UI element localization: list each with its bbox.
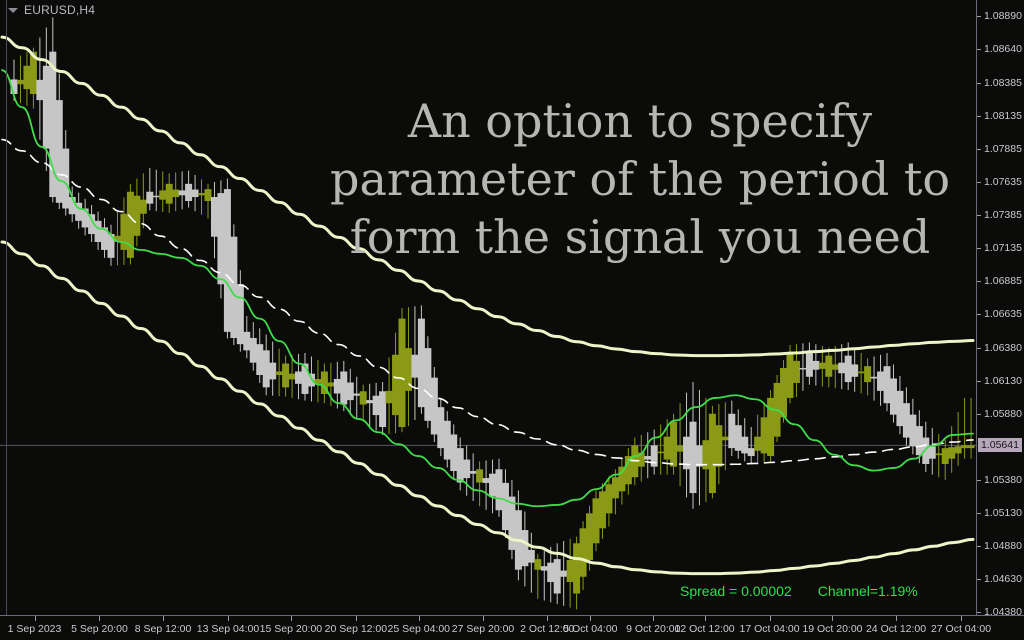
candlestick	[146, 168, 153, 210]
candlestick	[276, 349, 283, 397]
candlestick	[166, 173, 173, 213]
time-tick	[35, 616, 36, 621]
time-label: 1 Sep 2023	[8, 623, 62, 635]
candlestick	[373, 383, 380, 431]
candlestick	[282, 356, 289, 397]
candlestick	[709, 406, 716, 499]
candlestick	[450, 424, 457, 479]
time-tick	[832, 616, 833, 621]
candlestick	[767, 390, 774, 461]
price-tick	[977, 414, 981, 415]
candlestick	[17, 56, 24, 104]
candlestick	[444, 411, 451, 467]
candlestick	[735, 409, 742, 458]
candlestick	[806, 342, 813, 384]
time-tick	[291, 616, 292, 621]
candlestick	[101, 218, 108, 258]
time-tick	[483, 616, 484, 621]
candlestick	[476, 461, 483, 506]
candlestick	[799, 343, 806, 391]
candlestick	[741, 418, 748, 461]
time-tick	[653, 616, 654, 621]
time-tick	[770, 616, 771, 621]
time-tick	[356, 616, 357, 621]
symbol-bar[interactable]: EURUSD,H4	[0, 0, 95, 20]
candlestick	[955, 412, 962, 466]
candlestick	[929, 428, 936, 475]
candlestick	[159, 171, 166, 212]
candlestick	[437, 398, 444, 456]
candlestick	[605, 476, 612, 526]
candlestick	[625, 448, 632, 495]
candlestick	[871, 357, 878, 401]
candlestick	[179, 171, 186, 209]
candlestick	[638, 435, 645, 482]
candlestick	[884, 353, 891, 411]
time-label: 17 Oct 04:00	[739, 623, 799, 635]
candlestick	[715, 404, 722, 484]
candlestick	[825, 348, 832, 388]
price-tick	[977, 612, 981, 613]
candlestick	[877, 355, 884, 406]
candlestick	[321, 364, 328, 404]
candlestick	[386, 357, 393, 434]
time-tick	[228, 616, 229, 621]
candlestick	[379, 382, 386, 435]
candlestick	[198, 179, 205, 214]
chart-plot-area[interactable]	[0, 0, 977, 616]
candlestick	[424, 336, 431, 428]
symbol-label: EURUSD,H4	[24, 3, 95, 17]
time-label: 27 Sep 20:00	[452, 623, 514, 635]
time-tick	[99, 616, 100, 621]
price-tick	[977, 314, 981, 315]
candlestick	[314, 360, 321, 402]
candlestick	[618, 459, 625, 505]
time-label: 19 Oct 20:00	[802, 623, 862, 635]
time-tick	[896, 616, 897, 621]
candlestick	[95, 212, 102, 250]
candlestick	[295, 354, 302, 399]
price-tick	[977, 513, 981, 514]
price-label: 1.04880	[984, 540, 1022, 552]
candlestick	[935, 434, 942, 477]
price-label: 1.07635	[984, 176, 1022, 188]
candlestick	[250, 322, 257, 370]
candlestick	[392, 333, 399, 433]
candlestick	[411, 306, 418, 420]
candlestick	[948, 426, 955, 473]
price-tick	[977, 83, 981, 84]
chart-left-border	[6, 0, 7, 616]
price-tick	[977, 546, 981, 547]
price-tick	[977, 182, 981, 183]
candlestick	[502, 469, 509, 538]
candlestick	[127, 184, 134, 265]
time-tick	[590, 616, 591, 621]
price-tick	[977, 116, 981, 117]
price-label: 1.07885	[984, 143, 1022, 155]
price-label: 1.08385	[984, 77, 1022, 89]
price-tick	[977, 49, 981, 50]
candlestick	[496, 459, 503, 517]
candlestick	[593, 490, 600, 551]
candlestick	[108, 225, 115, 266]
candlestick	[541, 550, 548, 600]
candlestick	[573, 537, 580, 610]
candlestick	[256, 328, 263, 383]
price-label: 1.08890	[984, 10, 1022, 22]
time-label: 24 Oct 12:00	[866, 623, 926, 635]
price-tick	[977, 281, 981, 282]
price-label: 1.07385	[984, 209, 1022, 221]
candlestick	[961, 398, 968, 459]
series-moving-average	[2, 70, 973, 506]
chart-canvas	[0, 0, 977, 616]
time-label: 5 Sep 20:00	[71, 623, 128, 635]
candlestick	[75, 193, 82, 229]
candlestick	[677, 403, 684, 486]
time-tick	[163, 616, 164, 621]
time-label: 27 Oct 04:00	[931, 623, 991, 635]
candlestick	[269, 342, 276, 396]
price-tick	[977, 480, 981, 481]
candlestick	[851, 348, 858, 392]
price-label: 1.08135	[984, 110, 1022, 122]
candlestick	[405, 307, 412, 426]
candlestick	[463, 445, 470, 495]
candlestick	[728, 401, 735, 457]
price-tick	[977, 248, 981, 249]
candlestick	[56, 74, 63, 209]
candlestick	[547, 547, 554, 603]
candlestick	[896, 376, 903, 434]
candlestick	[968, 398, 975, 459]
candlestick	[120, 197, 127, 264]
current-price-label: 1.05641	[978, 438, 1022, 452]
candlestick	[942, 440, 949, 480]
candlestick	[230, 224, 237, 345]
time-label: 13 Sep 04:00	[197, 623, 259, 635]
candlestick	[508, 480, 515, 559]
price-tick	[977, 381, 981, 382]
price-label: 1.08640	[984, 43, 1022, 55]
candlestick	[140, 173, 147, 228]
price-tick	[977, 215, 981, 216]
spread-label: Spread = 0.00002	[680, 583, 792, 599]
candlestick	[347, 369, 354, 415]
candlestick	[366, 384, 373, 426]
time-tick	[547, 616, 548, 621]
candlestick	[903, 387, 910, 445]
price-scale[interactable]: 1.088901.086401.083851.081351.078851.076…	[976, 0, 1024, 616]
price-label: 1.06380	[984, 342, 1022, 354]
candlestick	[909, 399, 916, 455]
candlestick	[114, 211, 121, 265]
price-tick	[977, 16, 981, 17]
candlestick	[360, 385, 367, 422]
price-label: 1.06130	[984, 375, 1022, 387]
candlestick	[470, 453, 477, 501]
candlestick	[82, 199, 89, 236]
candlestick	[567, 539, 574, 608]
candlestick	[36, 38, 43, 140]
candlestick	[580, 521, 587, 590]
candlestick	[754, 415, 761, 463]
candlestick	[23, 52, 30, 106]
time-tick	[705, 616, 706, 621]
series-midline-dashed-	[2, 140, 973, 465]
candlestick	[858, 353, 865, 394]
time-label: 9 Oct 20:00	[626, 623, 680, 635]
candlestick	[528, 533, 535, 593]
price-tick	[977, 579, 981, 580]
candlestick	[399, 308, 406, 432]
price-label: 1.07135	[984, 242, 1022, 254]
candlestick	[302, 353, 309, 401]
candlestick	[211, 182, 218, 258]
candlestick	[205, 184, 212, 218]
candlestick	[651, 430, 658, 475]
candlestick	[263, 334, 270, 395]
indicator-status-row: Spread = 0.00002 Channel=1.19%	[680, 583, 918, 599]
candlestick	[237, 270, 244, 351]
candlestick	[153, 170, 160, 211]
candlestick	[599, 483, 606, 539]
price-label: 1.05130	[984, 507, 1022, 519]
time-label: 20 Sep 12:00	[325, 623, 387, 635]
chevron-down-icon[interactable]	[8, 8, 18, 13]
price-label: 1.05880	[984, 408, 1022, 420]
candlestick	[62, 130, 69, 215]
candlestick	[489, 460, 496, 514]
time-label: 25 Sep 04:00	[388, 623, 450, 635]
time-label: 15 Sep 20:00	[260, 623, 322, 635]
time-tick	[419, 616, 420, 621]
time-label: 5 Oct 04:00	[563, 623, 617, 635]
candlestick	[172, 172, 179, 211]
candlestick	[192, 175, 199, 211]
price-tick	[977, 348, 981, 349]
price-tick	[977, 149, 981, 150]
price-label: 1.06885	[984, 275, 1022, 287]
candlestick	[185, 171, 192, 208]
candlestick	[774, 375, 781, 442]
candlestick	[418, 305, 425, 413]
time-tick	[961, 616, 962, 621]
candlestick	[521, 512, 528, 587]
candlestick	[832, 346, 839, 388]
candlestick	[224, 179, 231, 339]
candlestick	[243, 316, 250, 358]
candlestick	[353, 377, 360, 418]
price-label: 1.05380	[984, 474, 1022, 486]
series-envelope-lower	[2, 242, 973, 574]
candlestick	[722, 402, 729, 470]
price-label: 1.04630	[984, 573, 1022, 585]
candlestick	[534, 554, 541, 599]
candlestick	[702, 398, 709, 502]
time-scale[interactable]: 1 Sep 20235 Sep 20:008 Sep 12:0013 Sep 0…	[0, 615, 1024, 640]
candlestick	[431, 367, 438, 442]
candlestick	[761, 402, 768, 462]
candlestick	[483, 460, 490, 509]
candlestick	[683, 393, 690, 498]
price-label: 1.06635	[984, 308, 1022, 320]
candlestick	[560, 541, 567, 606]
candlestick	[890, 364, 897, 422]
channel-label: Channel=1.19%	[818, 583, 918, 599]
time-label: 12 Oct 12:00	[675, 623, 735, 635]
candlestick	[864, 358, 871, 395]
candlestick	[690, 382, 697, 509]
candlestick	[133, 179, 140, 247]
time-label: 8 Sep 12:00	[135, 623, 192, 635]
mt4-chart-window: EURUSD,H4 An option to specify parameter…	[0, 0, 1024, 640]
